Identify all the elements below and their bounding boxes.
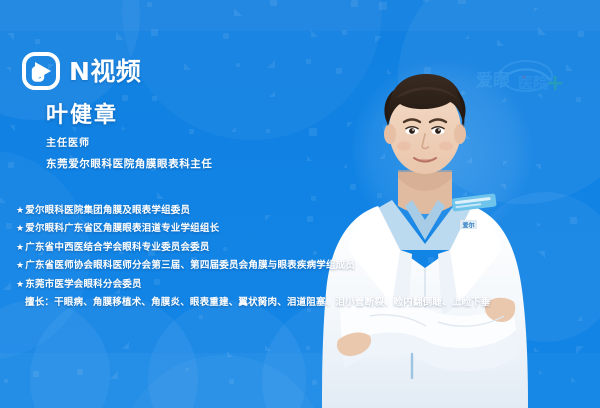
specialty-text: 干眼病、角膜移植术、角膜炎、眼表重建、翼状胬肉、泪道阻塞、泪小管断裂、睑内翻倒睫… (54, 297, 491, 308)
confetti-shape (3, 282, 11, 290)
confetti-shape (7, 33, 14, 40)
confetti-shape (270, 0, 277, 6)
confetti-shape (458, 0, 466, 4)
confetti-shape (534, 8, 538, 12)
credential-text: 爱尔眼科医院集团角膜及眼表学组委员 (25, 205, 190, 216)
confetti-shape (227, 351, 233, 357)
confetti-shape (538, 27, 546, 35)
confetti-shape (151, 29, 158, 36)
confetti-shape (342, 30, 347, 35)
confetti-shape (6, 223, 12, 229)
play-video-logo-icon (22, 52, 60, 90)
confetti-shape (375, 36, 382, 43)
confetti-shape (116, 32, 124, 40)
credential-item: ★广东省中西医结合学会眼科专业委员会委员 (16, 243, 576, 253)
credential-item: ★广东省医师协会眼科医师分会第三届、第四届委员会角膜与眼表疾病学组成员 (16, 261, 576, 271)
brand-logo[interactable]: N视频 (22, 52, 141, 90)
confetti-shape (266, 129, 270, 133)
confetti-shape (231, 127, 236, 132)
confetti-shape (497, 39, 504, 46)
credential-item: ★东莞市医学会眼科分会委员 (16, 280, 576, 290)
confetti-shape (186, 368, 190, 372)
confetti-shape (267, 60, 275, 68)
confetti-shape (9, 125, 15, 131)
confetti-shape (33, 371, 39, 377)
star-bullet-icon: ★ (16, 224, 24, 234)
confetti-shape (152, 96, 157, 101)
confetti-shape (265, 345, 271, 351)
brand-logo-text: N视频 (69, 59, 141, 84)
confetti-shape (35, 39, 40, 44)
specialty-line: 擅长：干眼病、角膜移植术、角膜炎、眼表重建、翼状胬肉、泪道阻塞、泪小管断裂、睑内… (16, 298, 576, 308)
doctor-profile-banner: 爱眼 医院 + (0, 0, 600, 408)
credential-text: 广东省医师协会眼科医师分会第三届、第四届委员会角膜与眼表疾病学组成员 (25, 260, 355, 271)
star-bullet-icon: ★ (16, 261, 24, 271)
confetti-shape (122, 342, 129, 349)
confetti-shape (576, 97, 581, 102)
confetti-shape (110, 371, 118, 379)
confetti-shape (0, 196, 6, 203)
star-bullet-icon: ★ (16, 243, 24, 253)
confetti-shape (576, 346, 584, 354)
doctor-name: 叶健章 (46, 104, 213, 127)
confetti-shape (351, 0, 358, 7)
confetti-shape (157, 192, 164, 199)
credential-item: ★爱尔眼科医院集团角膜及眼表学组委员 (16, 206, 576, 216)
confetti-shape (571, 377, 576, 382)
confetti-shape (184, 63, 191, 70)
confetti-shape (465, 35, 469, 39)
confetti-shape (8, 162, 14, 168)
specialty-label: 擅长： (25, 297, 54, 308)
star-bullet-icon: ★ (16, 280, 24, 290)
confetti-shape (578, 31, 584, 37)
confetti-shape (236, 63, 240, 67)
confetti-shape (147, 2, 152, 7)
confetti-shape (122, 95, 128, 101)
doctor-rank: 主任医师 (46, 134, 213, 149)
confetti-shape (379, 2, 387, 10)
doctor-position: 东莞爱尔眼科医院角膜眼表科主任 (46, 156, 213, 171)
doctor-identity-block: 叶健章 主任医师 东莞爱尔眼科医院角膜眼表科主任 (46, 104, 213, 171)
credential-text: 东莞市医学会眼科分会委员 (25, 279, 141, 290)
credential-text: 广东省中西医结合学会眼科专业委员会委员 (25, 242, 209, 253)
confetti-shape (577, 316, 582, 321)
confetti-shape (6, 67, 11, 72)
confetti-shape (77, 369, 83, 375)
confetti-shape (311, 30, 318, 37)
confetti-shape (4, 379, 8, 383)
confetti-shape (234, 8, 242, 16)
confetti-shape (223, 33, 229, 39)
confetti-shape (199, 315, 203, 319)
credential-item: ★爱尔眼科广东省区角膜眼表泪道专业学组组长 (16, 224, 576, 234)
star-bullet-icon: ★ (16, 206, 24, 216)
confetti-shape (269, 91, 275, 97)
confetti-shape (229, 379, 234, 384)
credentials-list: ★爱尔眼科医院集团角膜及眼表学组委员★爱尔眼科广东省区角膜眼表泪道专业学组组长★… (16, 206, 576, 307)
credential-text: 爱尔眼科广东省区角膜眼表泪道专业学组组长 (25, 223, 219, 234)
